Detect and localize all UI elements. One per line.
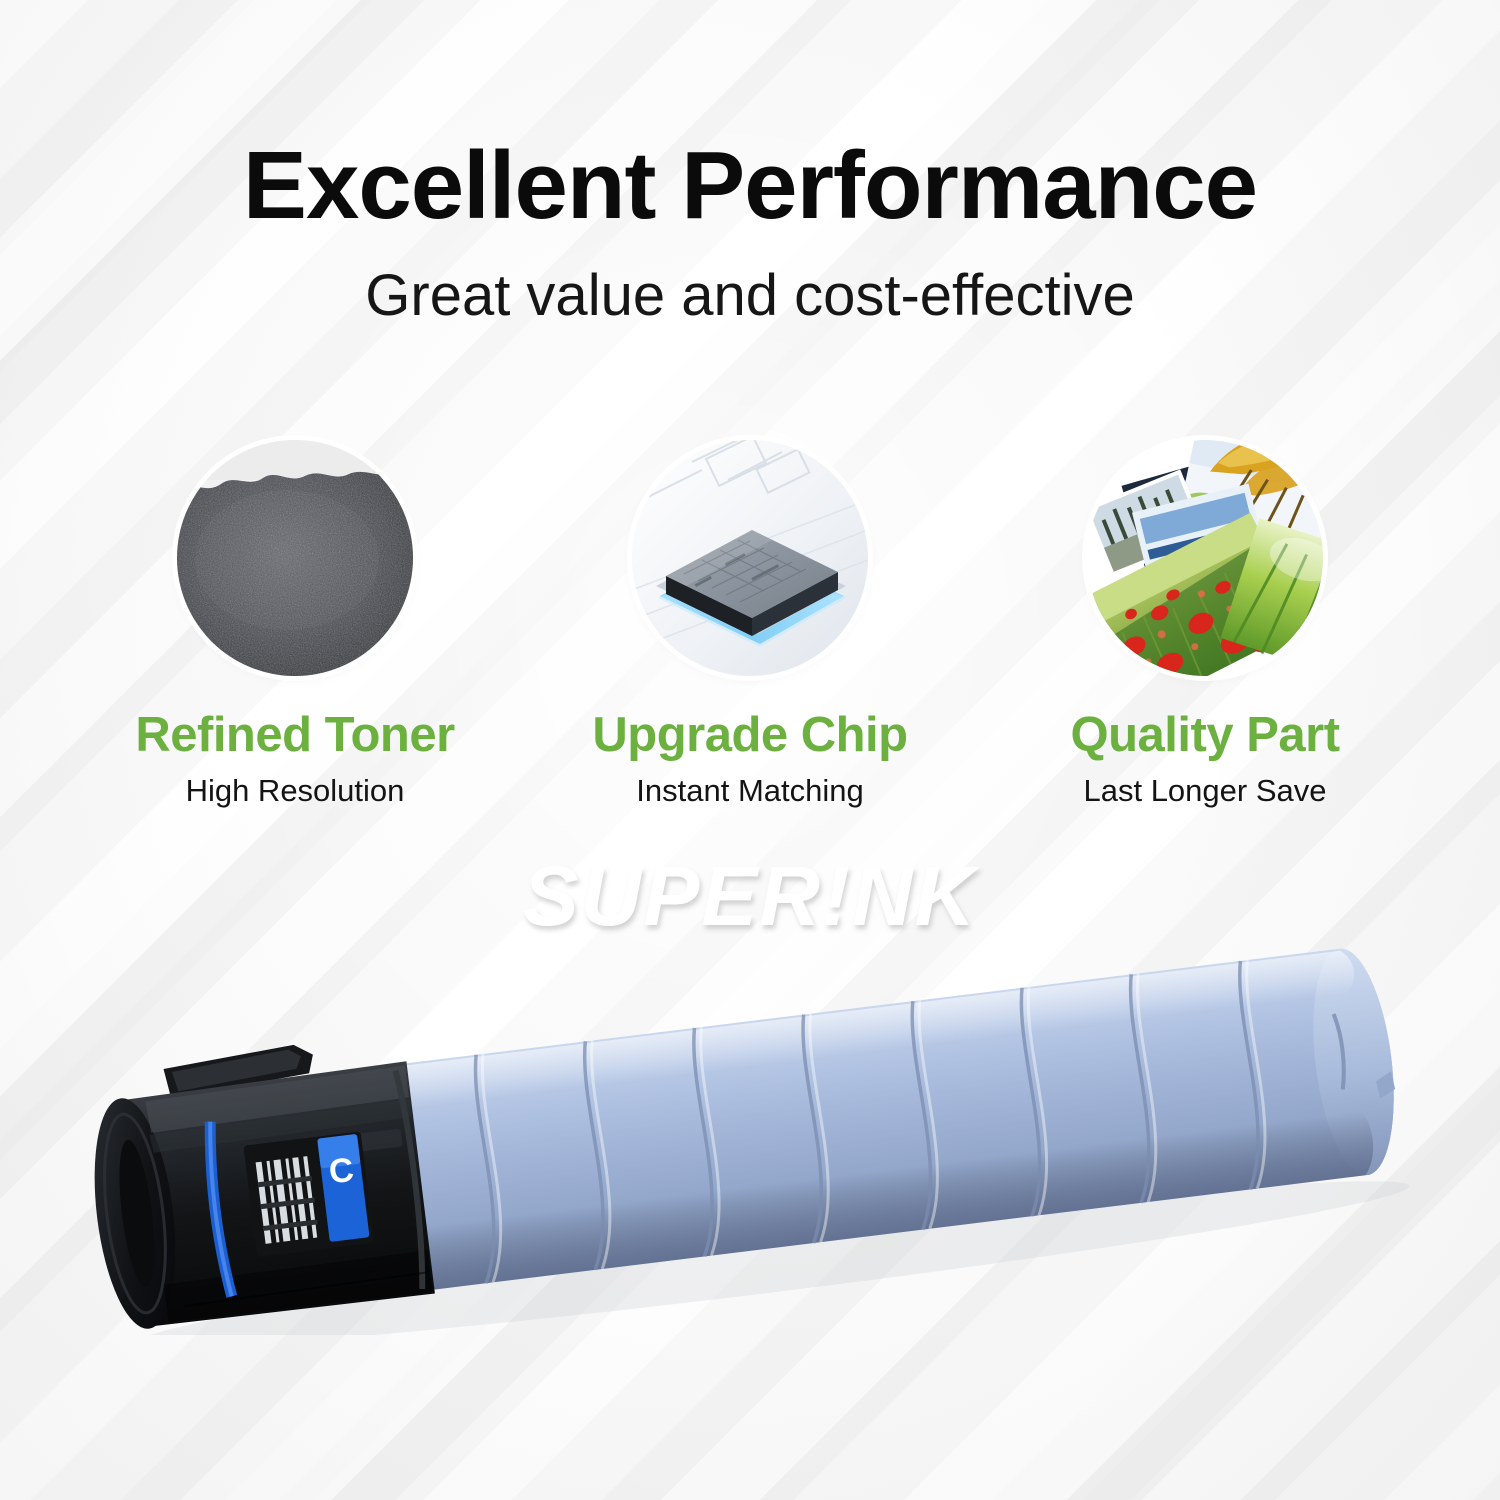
brand-watermark: SUPER!NK	[0, 848, 1500, 945]
feature-subtitle: High Resolution	[186, 775, 405, 808]
feature-item-quality-part: Quality Part Last Longer Save	[985, 440, 1425, 808]
product-image-cyan-toner-cartridge: C	[58, 935, 1458, 1335]
feature-item-refined-toner: Refined Toner High Resolution	[75, 440, 515, 808]
product-feature-banner: Excellent Performance Great value and co…	[0, 0, 1500, 1500]
feature-item-upgrade-chip: Upgrade Chip Instant Matching	[530, 440, 970, 808]
feature-subtitle: Last Longer Save	[1083, 775, 1326, 808]
feature-subtitle: Instant Matching	[636, 775, 863, 808]
feature-title: Refined Toner	[135, 710, 454, 761]
page-title: Excellent Performance	[0, 138, 1500, 234]
feature-title: Upgrade Chip	[592, 710, 907, 761]
toner-powder-icon	[177, 440, 413, 676]
printed-photos-icon	[1087, 440, 1323, 676]
page-subtitle: Great value and cost-effective	[0, 266, 1500, 327]
feature-title: Quality Part	[1070, 710, 1339, 761]
smart-chip-icon	[632, 440, 868, 676]
feature-list: Refined Toner High Resolution	[75, 440, 1425, 808]
cartridge-color-letter: C	[327, 1151, 356, 1192]
